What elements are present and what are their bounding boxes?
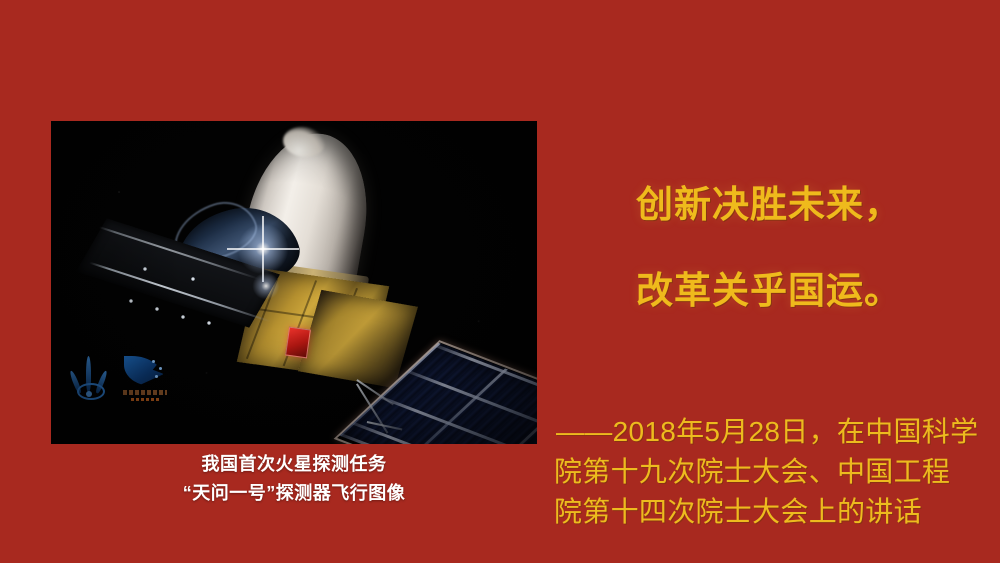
spacecraft-photo-block [51, 121, 537, 444]
attribution-line-2: 院第十九次院士大会、中国工程 [554, 452, 974, 492]
cnsa-logo [69, 356, 109, 402]
attribution-line-1: ——2018年5月28日，在中国科学 [556, 412, 974, 452]
caption-line-2: “天问一号”探测器飞行图像 [51, 479, 537, 508]
quote-text: 创新决胜未来， 改革关乎国运。 [636, 186, 902, 309]
mission-logos [69, 356, 168, 402]
specular-glint [234, 220, 292, 278]
boom-fastener [207, 321, 211, 325]
photo-caption: 我国首次火星探测任务 “天问一号”探测器飞行图像 [51, 450, 537, 508]
quote-line-1: 创新决胜未来， [636, 186, 902, 223]
red-instrument-patch [285, 327, 311, 359]
boom-fastener [129, 299, 133, 303]
caption-line-1: 我国首次火星探测任务 [51, 450, 537, 479]
quote-attribution: ——2018年5月28日，在中国科学 院第十九次院士大会、中国工程 院第十四次院… [554, 412, 974, 531]
specular-glint-secondary [251, 271, 281, 301]
boom-fastener [155, 307, 159, 311]
tianwen-1-photo [51, 121, 537, 444]
attribution-line-3: 院第十四次院士大会上的讲话 [554, 492, 974, 532]
tianwen-1-mission-logo [122, 356, 168, 402]
boom-fastener [143, 267, 147, 271]
quote-line-2: 改革关乎国运。 [636, 272, 902, 309]
slide-canvas: 我国首次火星探测任务 “天问一号”探测器飞行图像 创新决胜未来， 改革关乎国运。… [0, 0, 1000, 563]
boom-fastener [181, 315, 185, 319]
boom-fastener [191, 277, 195, 281]
